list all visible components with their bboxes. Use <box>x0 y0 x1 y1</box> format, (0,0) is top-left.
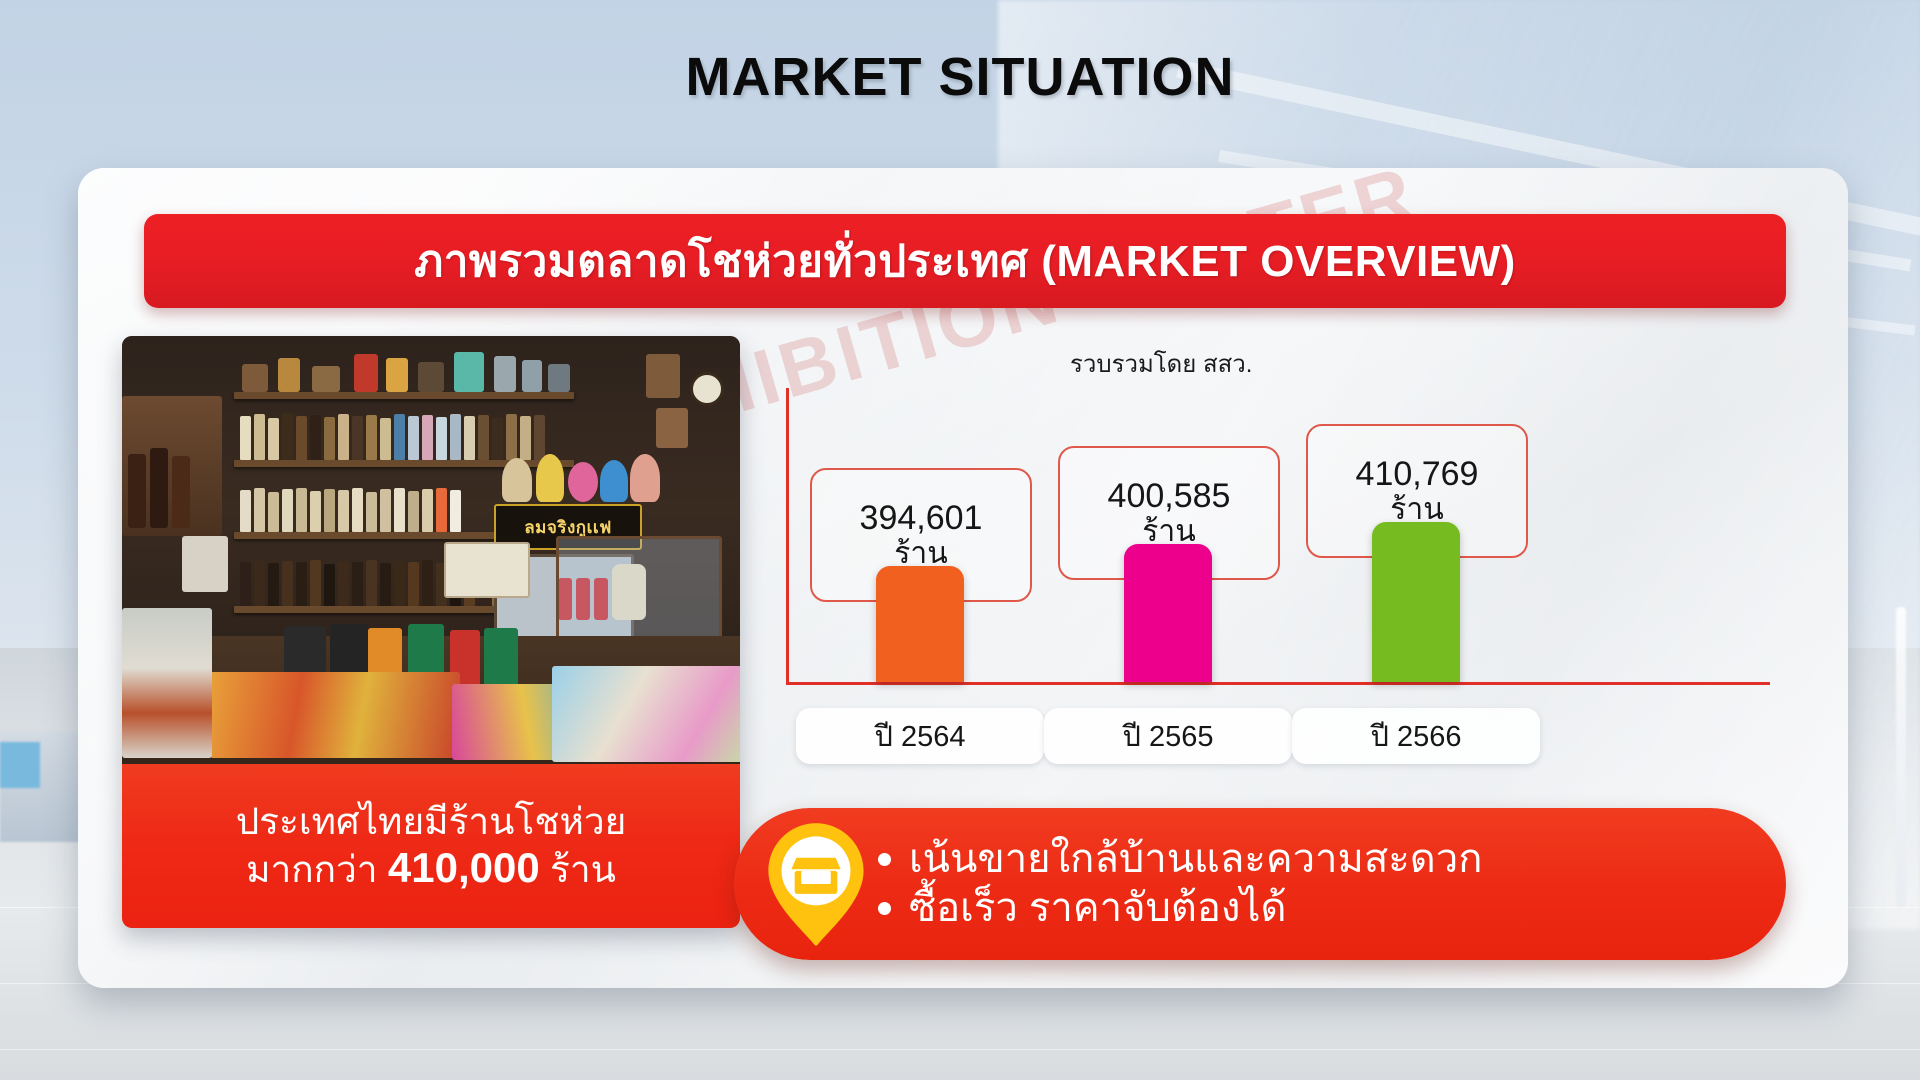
shop-bottle-row <box>240 486 461 532</box>
shop-toy-mask <box>536 454 564 502</box>
shop-candy-display <box>552 666 740 762</box>
shop-product-shelf <box>122 608 212 758</box>
chart-year-label-2565: ปี 2565 <box>1044 708 1292 764</box>
shop-tin-canister <box>484 628 518 686</box>
photo-caption: ประเทศไทยมีร้านโชห่วย มากกว่า 410,000 ร้… <box>122 764 740 928</box>
shop-shelf <box>234 392 574 399</box>
chart-x-axis <box>786 682 1770 685</box>
chart-bar-2566 <box>1372 522 1460 682</box>
background-floor-line <box>0 1049 1920 1050</box>
shop-toy-mask <box>630 454 660 502</box>
shop-menu-board <box>444 542 530 598</box>
chart-value-2566: 410,769 <box>1356 455 1479 493</box>
section-header-banner: ภาพรวมตลาดโชห่วยทั่วประเทศ (MARKET OVERV… <box>144 214 1786 308</box>
key-point-text: ซื้อเร็ว ราคาจับต้องได้ <box>909 884 1287 933</box>
shop-jar <box>522 360 542 392</box>
caption-highlight-number: 410,000 <box>388 844 540 891</box>
shop-glass-cabinet <box>556 536 722 644</box>
market-overview-card: EXHIBITION CENTER ภาพรวมตลาดโชห่วยทั่วปร… <box>78 168 1848 988</box>
shop-jar <box>354 354 378 392</box>
shop-jar <box>494 356 516 392</box>
caption-suffix: ร้าน <box>550 849 616 890</box>
shop-toy-mask <box>502 458 532 502</box>
key-points-list: เน้นขายใกล้บ้านและความสะดวก ซื้อเร็ว ราค… <box>878 835 1482 933</box>
shop-toy-mask <box>600 460 628 502</box>
page-title: MARKET SITUATION <box>0 46 1920 108</box>
shop-toy-mask <box>568 462 598 502</box>
chart-bar-2565 <box>1124 544 1212 682</box>
chart-y-axis <box>786 388 789 684</box>
background-left-window <box>0 742 40 788</box>
shop-bottle-stack <box>150 448 168 528</box>
bullet-dot-icon <box>878 853 891 866</box>
shop-framed-picture <box>646 354 680 398</box>
shop-bottle-row <box>240 412 545 460</box>
caption-prefix: มากกว่า <box>246 849 378 890</box>
photo-caption-line-2: มากกว่า 410,000 ร้าน <box>246 844 616 891</box>
chart-bar-2564 <box>876 566 964 682</box>
shop-jar <box>418 362 444 392</box>
shop-jar <box>242 364 268 392</box>
shop-photo-panel: ลมจริงกูเเฟ <box>122 336 740 928</box>
market-bar-chart: รวบรวมโดย สสว. 394,601 ร้าน 400,585 ร้าน… <box>768 344 1788 792</box>
shop-jar <box>454 352 484 392</box>
shop-jar <box>278 358 300 392</box>
photo-caption-line-1: ประเทศไทยมีร้านโชห่วย <box>236 801 627 842</box>
key-point-item: ซื้อเร็ว ราคาจับต้องได้ <box>878 884 1482 933</box>
shop-bottle-stack <box>172 456 190 528</box>
chart-value-2565: 400,585 <box>1108 477 1231 515</box>
shop-framed-picture <box>656 408 688 448</box>
chart-year-label-2566: ปี 2566 <box>1292 708 1540 764</box>
thai-grocery-shop-photo: ลมจริงกูเเฟ <box>122 336 740 764</box>
key-points-box: เน้นขายใกล้บ้านและความสะดวก ซื้อเร็ว ราค… <box>734 808 1786 960</box>
shop-bottle-stack <box>128 454 146 528</box>
shop-cup-stack <box>182 536 228 592</box>
shop-snack-pile <box>210 672 460 758</box>
shop-jar <box>548 364 570 392</box>
chart-year-label-2564: ปี 2564 <box>796 708 1044 764</box>
shop-location-pin-icon <box>760 820 872 948</box>
shop-jar <box>386 358 408 392</box>
key-point-item: เน้นขายใกล้บ้านและความสะดวก <box>878 835 1482 884</box>
bullet-dot-icon <box>878 902 891 915</box>
key-point-text: เน้นขายใกล้บ้านและความสะดวก <box>909 835 1482 884</box>
chart-value-2564: 394,601 <box>860 499 983 537</box>
chart-source-note: รวบรวมโดย สสว. <box>1070 344 1252 383</box>
shop-jar <box>312 366 340 392</box>
background-pillar <box>1896 607 1906 907</box>
header-banner-label: ภาพรวมตลาดโชห่วยทั่วประเทศ (MARKET OVERV… <box>414 226 1516 296</box>
shop-wall-clock <box>690 372 724 406</box>
